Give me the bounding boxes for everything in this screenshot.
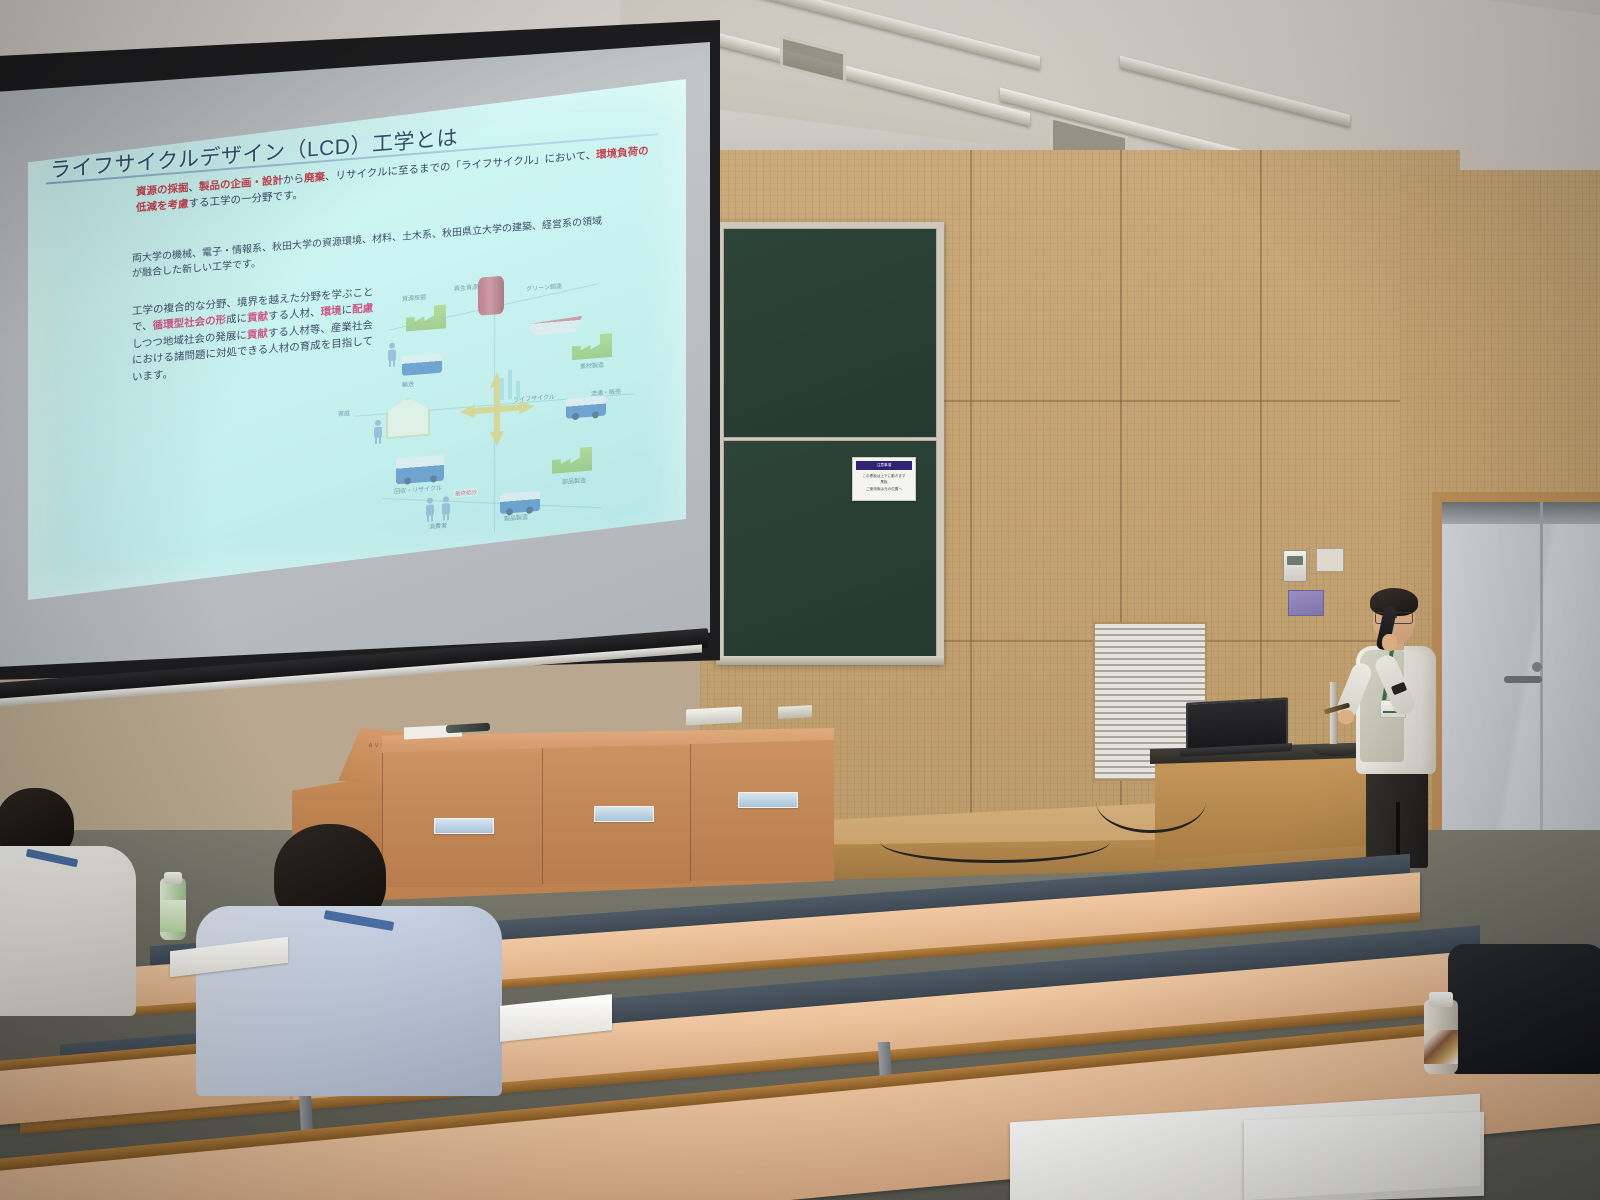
chalk-tray xyxy=(716,656,944,665)
whiteboard-marker-icon[interactable] xyxy=(446,723,490,734)
bottle-label-foreground xyxy=(1424,1030,1458,1064)
lectern-small-device[interactable] xyxy=(778,705,812,719)
diagram-van-icon xyxy=(396,455,444,485)
bottle-cap-foreground xyxy=(1429,992,1453,1007)
diagram-label-transport: 輸送 xyxy=(378,377,438,391)
backpack xyxy=(1448,944,1600,1074)
lectern-remote-device[interactable] xyxy=(686,707,742,726)
diagram-person-icon xyxy=(440,496,452,521)
diagram-factory-icon xyxy=(572,333,612,360)
diagram-label-household: 家庭 xyxy=(326,407,362,419)
lifecycle-diagram: 再生資源 グリーン調達 資源採掘 素材製造 輸送 ライフサイクル xyxy=(328,251,658,558)
diagram-factory-icon xyxy=(406,304,446,331)
slide-t2: から xyxy=(283,173,304,187)
presenter-right-hand xyxy=(1382,634,1397,651)
blackboard[interactable] xyxy=(716,222,944,664)
blackboard-panel-upper[interactable] xyxy=(723,228,937,438)
notice-sign-line-3: ご使用後は元の位置へ xyxy=(853,486,915,492)
wall-seam xyxy=(970,150,972,910)
bottle-cap xyxy=(164,872,182,884)
diagram-person-icon xyxy=(372,419,384,444)
diagram-label-distribution: 流通・販売 xyxy=(586,386,626,398)
wall-sign xyxy=(1288,590,1324,616)
diagram-house-icon xyxy=(386,396,430,440)
bottle-label xyxy=(160,900,186,932)
diagram-person-icon xyxy=(386,342,398,367)
power-cable xyxy=(880,820,1110,863)
lectern-panel[interactable] xyxy=(690,740,835,881)
beverage-bottle-green-tea xyxy=(160,878,186,940)
lecture-hall-photo: 注意事項 この黒板は上下に動きます 黒板 ご使用後は元の位置へ ライフサイクルデ… xyxy=(0,0,1600,1200)
projected-slide: ライフサイクルデザイン（LCD）工学とは 資源の採掘、製品の企画・設計から廃棄、… xyxy=(28,79,686,600)
attendee-front-left xyxy=(0,788,170,1018)
slide-p3-e: する人材、 xyxy=(268,307,321,323)
open-document-page xyxy=(1244,1112,1484,1200)
door-handle[interactable] xyxy=(1504,676,1542,683)
diagram-cart-icon xyxy=(402,353,442,376)
microphone-stand[interactable] xyxy=(1330,682,1337,748)
lectern-panel-label xyxy=(738,792,798,808)
lectern-panel-label xyxy=(594,806,654,822)
presenter xyxy=(1340,588,1450,868)
presenter-left-hand xyxy=(1338,710,1354,724)
power-cable xyxy=(1096,770,1206,833)
ceiling-air-vent xyxy=(780,35,846,84)
blackboard-notice-sign: 注意事項 この黒板は上下に動きます 黒板 ご使用後は元の位置へ xyxy=(852,457,916,501)
wall-plate xyxy=(1316,548,1344,572)
beverage-bottle-foreground xyxy=(1424,1000,1458,1074)
diagram-label-landfill: 最終処分 xyxy=(454,488,478,498)
slide-hl-contribute-2: 貢献 xyxy=(247,327,268,341)
diagram-factory-icon xyxy=(552,447,592,474)
slide-t1: 、 xyxy=(189,181,200,194)
projection-screen: ライフサイクルデザイン（LCD）工学とは 資源の採掘、製品の企画・設計から廃棄、… xyxy=(0,20,740,700)
diagram-plant-icon xyxy=(496,368,530,401)
diagram-person-icon xyxy=(424,497,436,522)
slide-hl-contribute-1: 貢献 xyxy=(247,311,268,325)
diagram-label-material-plant: 素材製造 xyxy=(562,358,622,372)
notice-sign-band: 注意事項 xyxy=(856,461,912,470)
diagram-truck-icon xyxy=(500,491,540,514)
slide-hl-circular: 循環型社会の形 xyxy=(153,314,227,332)
attendee-body xyxy=(0,846,136,1016)
slide-hl-resource: 資源の採掘 xyxy=(136,182,189,198)
diagram-label-parts-plant: 部品製造 xyxy=(544,474,604,488)
ac-control-panel[interactable] xyxy=(1283,550,1307,582)
slide-hl-disposal: 廃棄 xyxy=(304,171,325,185)
diagram-label-raw: 資源採掘 xyxy=(384,291,444,305)
attendee-body xyxy=(196,906,502,1096)
slide-p3-c: 成に xyxy=(226,313,247,327)
door-top-shadow xyxy=(1442,502,1600,524)
diagram-label-consumer: 消費者 xyxy=(418,519,458,531)
diagram-truck-icon xyxy=(566,395,606,418)
diagram-ship-icon xyxy=(528,305,582,335)
diagram-label-green-procurement: グリーン調達 xyxy=(514,280,574,294)
door-lock-icon[interactable] xyxy=(1532,662,1542,672)
ceiling-light-strip xyxy=(1120,56,1350,127)
diagram-label-assembly: 製品製造 xyxy=(498,511,534,523)
diagram-label-collection: 回収・リサイクル xyxy=(384,482,452,496)
